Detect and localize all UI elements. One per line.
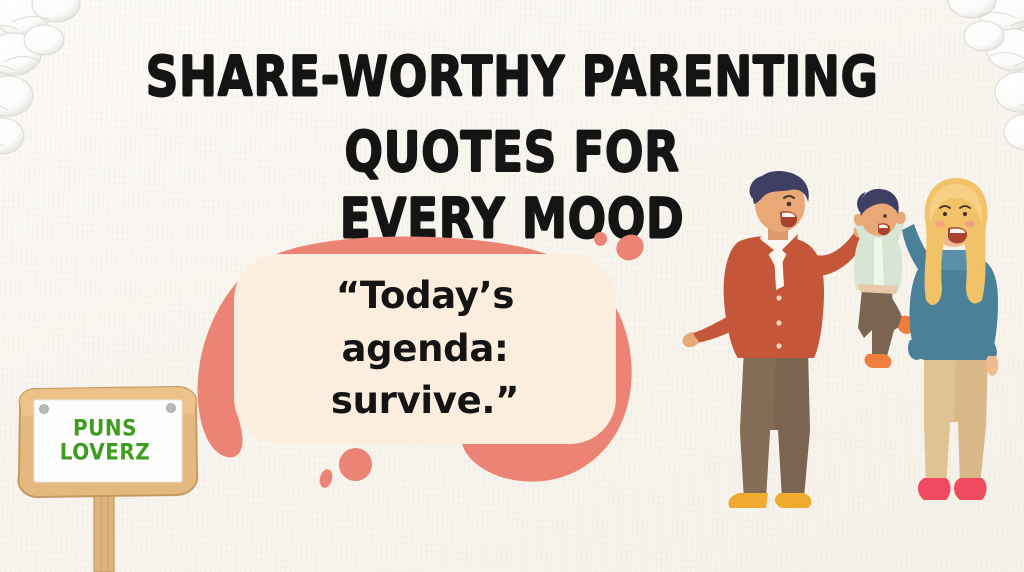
decorative-dot-small-upper: [594, 232, 607, 246]
figure-child: [854, 189, 914, 368]
decorative-dot-large-lower: [339, 448, 372, 481]
logo-wooden-sign[interactable]: PUNS LOVERZ: [8, 378, 208, 572]
quote-block: “Today’s agenda: survive.”: [196, 228, 666, 490]
logo-line-2: LOVERZ: [60, 440, 151, 463]
figure-father: [682, 171, 867, 508]
quote-text: “Today’s agenda: survive.”: [234, 254, 616, 444]
figure-mother: [902, 178, 998, 500]
family-illustration: [682, 168, 1022, 536]
logo-line-1: PUNS: [73, 416, 137, 439]
logo-text-wrap: PUNS LOVERZ: [44, 404, 166, 476]
poster-canvas: SHARE-WORTHY PARENTING QUOTES FOR EVERY …: [0, 0, 1024, 572]
